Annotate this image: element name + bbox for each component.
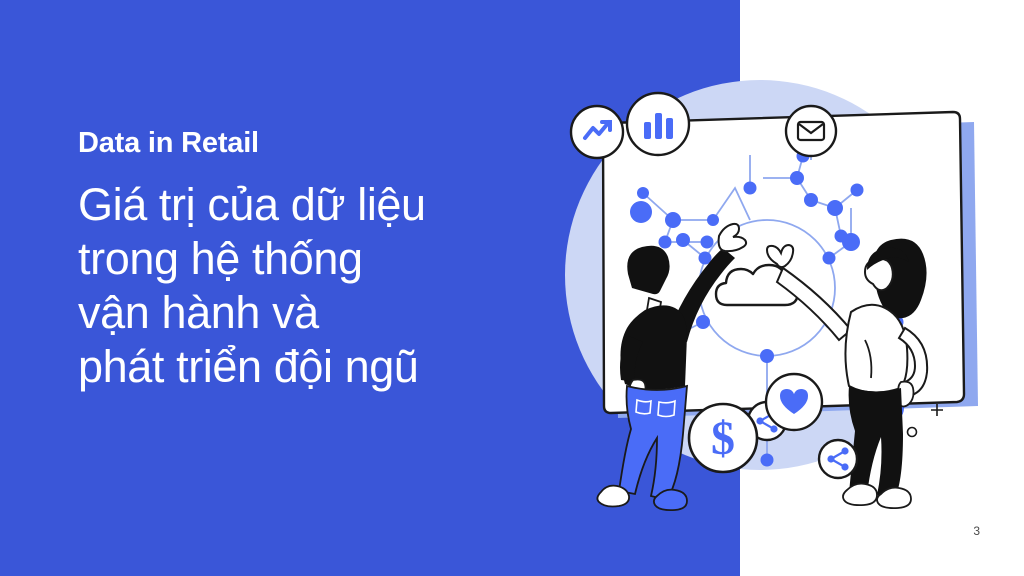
bar-chart-icon [627, 93, 689, 155]
svg-text:$: $ [711, 412, 735, 465]
envelope-icon [786, 106, 836, 156]
dollar-icon: $ [689, 404, 757, 472]
text-block: Data in Retail Giá trị của dữ liệu trong… [78, 128, 598, 394]
eyebrow-label: Data in Retail [78, 128, 598, 160]
page-number: 3 [973, 524, 980, 538]
share-nodes-icon-2 [819, 440, 857, 478]
heart-icon [766, 374, 822, 430]
left-shoe-1 [597, 486, 629, 507]
illustration: $ [545, 60, 1015, 520]
right-shoe-1 [843, 484, 877, 506]
page-title: Giá trị của dữ liệu trong hệ thống vận h… [78, 178, 598, 394]
slide: Data in Retail Giá trị của dữ liệu trong… [0, 0, 1024, 576]
small-circle-mark [908, 428, 917, 437]
trend-up-icon [571, 106, 623, 158]
